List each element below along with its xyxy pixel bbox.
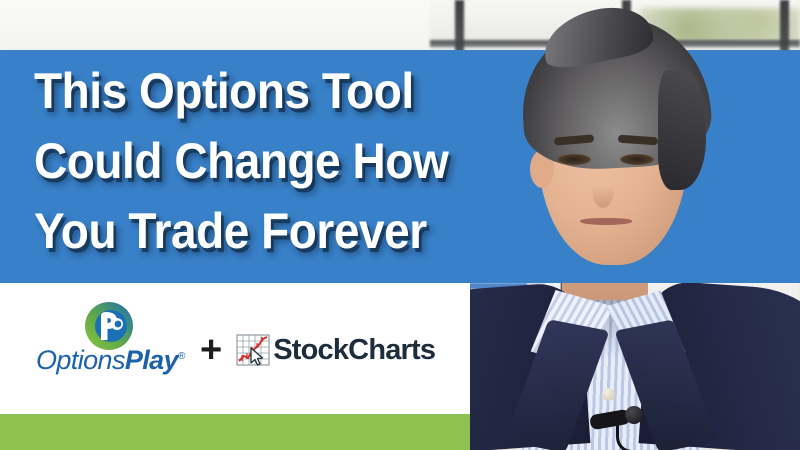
registered-trademark-icon: ® <box>178 351 185 362</box>
stockcharts-wordmark: StockCharts <box>273 334 435 367</box>
optionsplay-word-play: Play <box>125 345 178 375</box>
stockcharts-chart-icon <box>236 334 270 366</box>
presenter-mouth <box>580 218 632 225</box>
presenter-eye-left <box>557 154 591 165</box>
logo-panel: OptionsPlay® + <box>0 283 470 414</box>
lapel-microphone-head <box>625 406 643 424</box>
optionsplay-wordmark: OptionsPlay® <box>36 345 185 376</box>
logo-lockup: OptionsPlay® + <box>36 301 435 377</box>
optionsplay-word-options: Options <box>36 345 125 375</box>
presenter-eye-right <box>620 154 654 165</box>
presenter-nose <box>592 170 614 208</box>
headline-text: This Options Tool Could Change How You T… <box>34 56 439 266</box>
optionsplay-swirl-icon <box>84 301 134 351</box>
headline-line-1: This Options Tool <box>34 56 439 126</box>
presenter-hair-side <box>658 70 706 190</box>
video-thumbnail: This Options Tool Could Change How You T… <box>0 0 800 450</box>
headline-line-3: You Trade Forever <box>34 196 439 266</box>
optionsplay-logo: OptionsPlay® <box>36 301 186 377</box>
green-accent-bar <box>0 414 470 450</box>
headline-line-2: Could Change How <box>34 126 439 196</box>
presenter-head-overlay <box>430 0 800 300</box>
lapel-microphone-cord <box>616 424 645 450</box>
plus-separator: + <box>200 329 222 372</box>
presenter-shirt-button <box>602 388 615 401</box>
stockcharts-logo: StockCharts <box>236 334 435 367</box>
